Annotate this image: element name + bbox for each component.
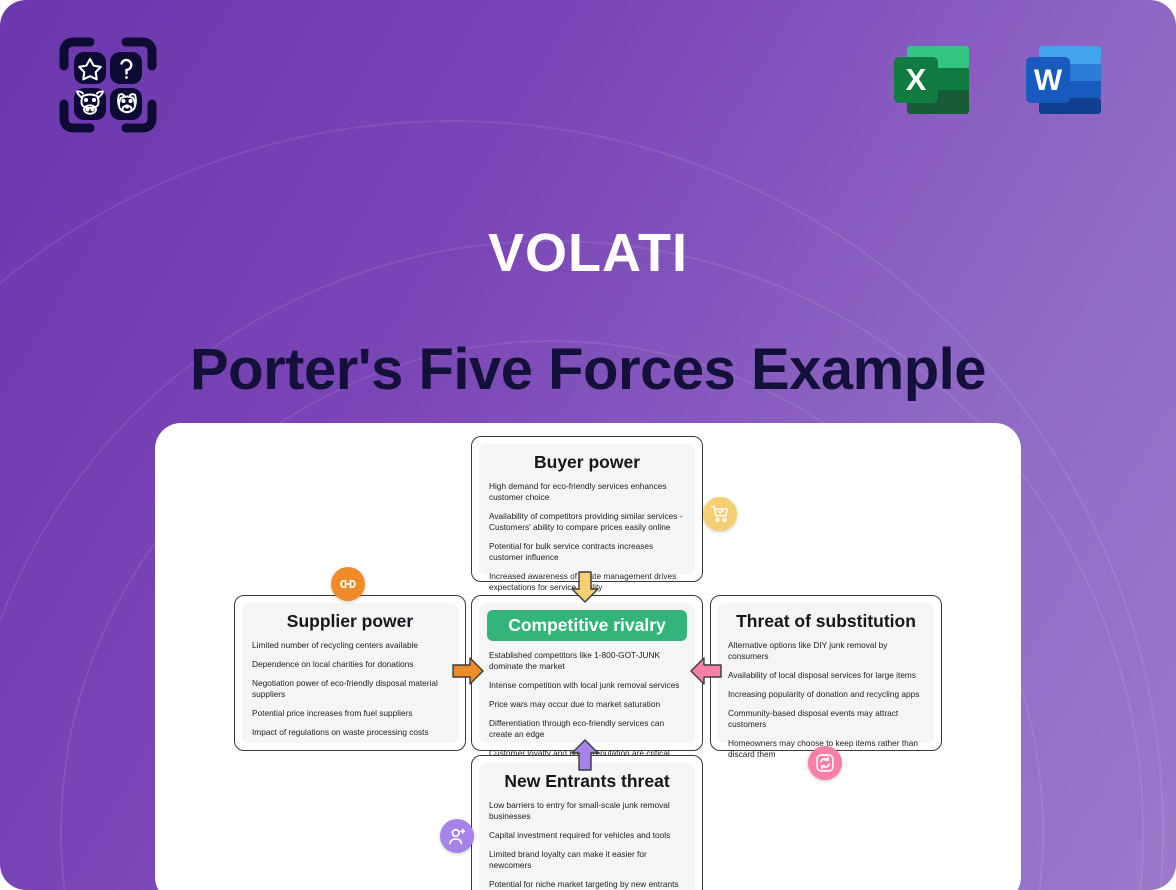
force-item: Community-based disposal events may attr… [728,708,924,730]
force-box-rivalry[interactable]: Competitive rivalry Established competit… [471,595,703,751]
force-item: Differentiation through eco-friendly ser… [489,718,685,740]
force-item: Availability of competitors providing si… [489,511,685,533]
force-item: High demand for eco-friendly services en… [489,481,685,503]
force-title: Threat of substitution [728,611,924,631]
force-title: Competitive rivalry [487,610,687,641]
volati-logo [52,30,164,140]
force-item-list: Limited number of recycling centers avai… [252,640,448,738]
force-item: Capital investment required for vehicles… [489,830,685,841]
word-icon[interactable]: W [1014,32,1114,132]
porters-five-forces-diagram: Buyer power High demand for eco-friendly… [155,423,1021,890]
force-item: Increasing popularity of donation and re… [728,689,924,700]
arrow-substitution-left [690,657,722,690]
force-item: Established competitors like 1-800-GOT-J… [489,650,685,672]
force-item: Dependence on local charities for donati… [252,659,448,670]
force-box-supplier[interactable]: Supplier power Limited number of recycli… [234,595,466,751]
link-icon[interactable] [331,567,365,601]
force-box-substitution[interactable]: Threat of substitution Alternative optio… [710,595,942,751]
svg-text:W: W [1034,64,1063,97]
force-item: Limited brand loyalty can make it easier… [489,849,685,871]
force-box-buyer[interactable]: Buyer power High demand for eco-friendly… [471,436,703,582]
svg-text:X: X [906,62,927,97]
arrow-supplier-right [452,657,484,690]
refresh-icon[interactable] [808,746,842,780]
force-item: Alternative options like DIY junk remova… [728,640,924,662]
force-item: Potential price increases from fuel supp… [252,708,448,719]
force-item: Negotiation power of eco-friendly dispos… [252,678,448,700]
slide-background: X W VOLATI Porter's Five Forces Example [0,0,1176,890]
force-item: Potential for bulk service contracts inc… [489,541,685,563]
force-item: Impact of regulations on waste processin… [252,727,448,738]
force-item-list: Alternative options like DIY junk remova… [728,640,924,760]
force-item: Low barriers to entry for small-scale ju… [489,800,685,822]
excel-icon[interactable]: X [882,32,982,132]
force-item: Intense competition with local junk remo… [489,680,685,691]
force-item: Potential for niche market targeting by … [489,879,685,890]
content-card: Buyer power High demand for eco-friendly… [155,423,1021,890]
force-item: Price wars may occur due to market satur… [489,699,685,710]
page-title: Porter's Five Forces Example [0,336,1176,403]
shopping-cart-icon[interactable] [703,497,737,531]
arrow-buyer-down [571,571,599,608]
force-item: Availability of local disposal services … [728,670,924,681]
add-user-icon[interactable] [440,819,474,853]
arrow-entrants-up [571,739,599,776]
brand-title: VOLATI [0,222,1176,284]
force-item-list: Low barriers to entry for small-scale ju… [489,800,685,890]
force-title: Buyer power [489,452,685,472]
force-item: Limited number of recycling centers avai… [252,640,448,651]
force-title: Supplier power [252,611,448,631]
